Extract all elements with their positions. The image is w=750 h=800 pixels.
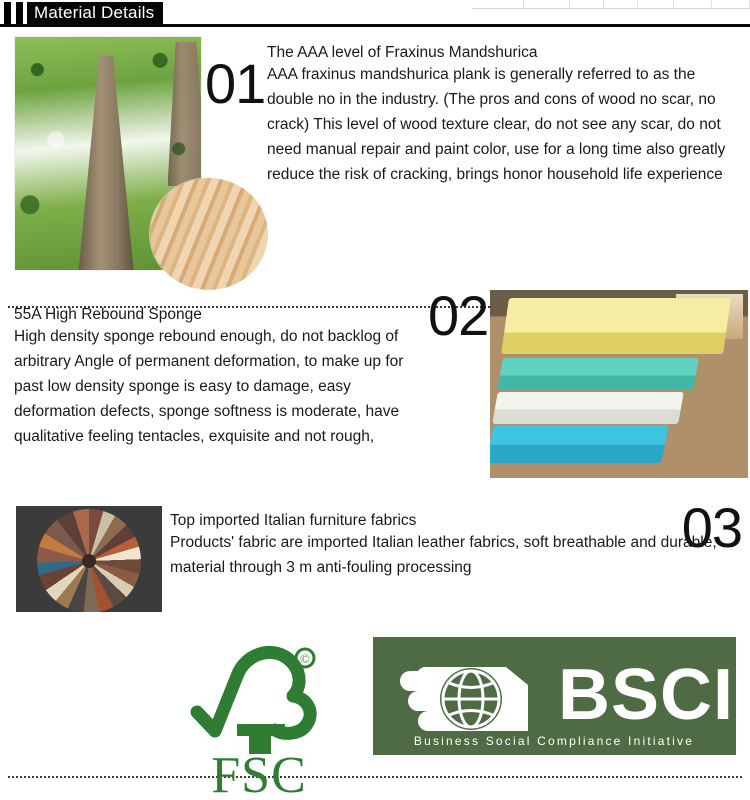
section-body-02: High density sponge rebound enough, do n… (14, 324, 434, 450)
certification-logos: © FSC BSCI Business Social Comp (0, 628, 750, 800)
section-title-03: Top imported Italian furniture fabrics (170, 512, 745, 530)
section-number-01: 01 (205, 56, 265, 112)
section-title-01: The AAA level of Fraxinus Mandshurica (267, 44, 741, 62)
material-details-page: Material Details 01 The AAA level of Fra… (0, 0, 750, 800)
bsci-wordmark: BSCI (558, 655, 734, 735)
section-01: 01 The AAA level of Fraxinus Mandshurica… (0, 28, 750, 276)
section-02: 55A High Rebound Sponge High density spo… (0, 286, 750, 486)
section-body-01: AAA fraxinus mandshurica plank is genera… (267, 62, 741, 188)
header-rule (0, 24, 750, 27)
section-number-02: 02 (428, 288, 488, 344)
fsc-logo: © FSC (175, 636, 343, 798)
page-title: Material Details (27, 2, 163, 24)
wood-grain-oval-swatch (150, 178, 268, 290)
fsc-copyright-mark: © (300, 651, 310, 666)
page-header: Material Details (0, 0, 750, 28)
fsc-wordmark: FSC (211, 747, 307, 798)
section-03: 03 Top imported Italian furniture fabric… (0, 496, 750, 616)
bsci-tagline: Business Social Compliance Initiative (414, 734, 694, 748)
section-body-03: Products' fabric are imported Italian le… (170, 530, 745, 580)
fsc-tree-checkmark-icon: © FSC (175, 636, 343, 798)
bsci-logo: BSCI Business Social Compliance Initiati… (373, 637, 736, 755)
leather-fabric-swatch-fan-photo (16, 506, 162, 612)
bsci-logo-icon: BSCI Business Social Compliance Initiati… (373, 637, 736, 755)
double-bar-icon (4, 2, 23, 24)
stacked-foam-sponge-slabs-photo (490, 290, 748, 478)
section-title-02: 55A High Rebound Sponge (14, 306, 434, 324)
